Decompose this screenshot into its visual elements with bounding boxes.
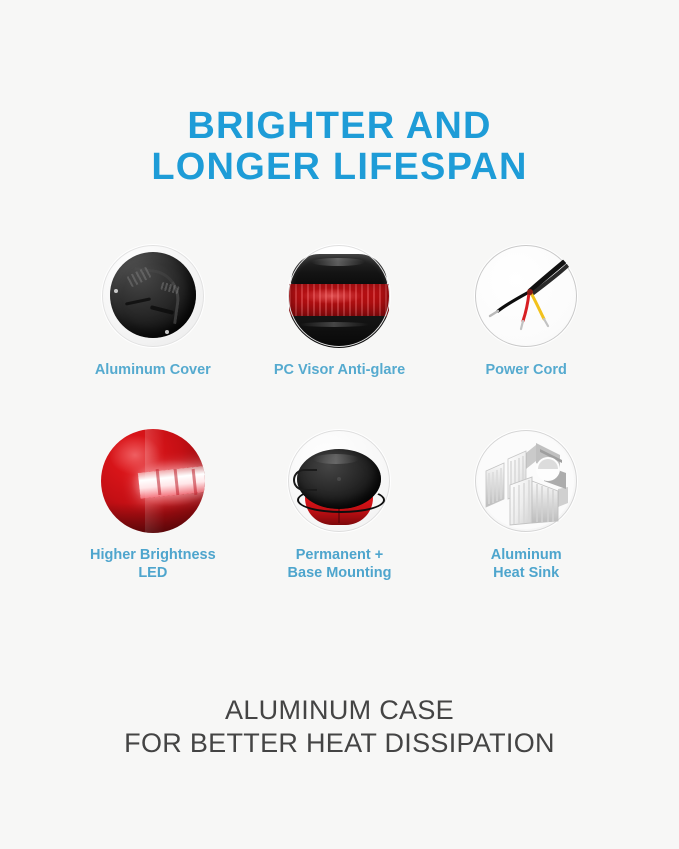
- heat-sink-fins-drawing: [474, 429, 578, 533]
- aluminum-heat-sink-icon: [474, 429, 578, 533]
- page-title: BRIGHTER AND LONGER LIFESPAN: [151, 106, 527, 188]
- footer-line-2: FOR BETTER HEAT DISSIPATION: [124, 727, 555, 760]
- pc-visor-beacon-icon: [287, 244, 391, 348]
- cover-screw-left: [114, 289, 118, 293]
- visor-lens-glow: [301, 288, 363, 304]
- feature-caption: Aluminum Cover: [95, 361, 211, 379]
- feature-item-led: Higher Brightness LED: [60, 429, 247, 582]
- feature-item-heat-sink: Aluminum Heat Sink: [433, 429, 620, 582]
- base-mounting-icon: [287, 429, 391, 533]
- visor-black-base: [287, 316, 391, 348]
- feature-caption: PC Visor Anti-glare: [274, 361, 405, 379]
- product-feature-poster: BRIGHTER AND LONGER LIFESPAN Aluminum Co…: [0, 0, 679, 849]
- cord-wires-drawing: [474, 244, 578, 348]
- visor-base-highlight: [299, 322, 369, 327]
- feature-item-aluminum-cover: Aluminum Cover: [60, 244, 247, 379]
- feature-caption: Permanent + Base Mounting: [288, 546, 392, 582]
- feature-item-pc-visor: PC Visor Anti-glare: [246, 244, 433, 379]
- aluminum-cover-icon: [101, 244, 205, 348]
- led-bottom-shadow: [101, 503, 205, 533]
- cover-screw-bottom: [165, 330, 169, 334]
- base-mounting-bracket: [293, 469, 317, 491]
- feature-caption: Power Cord: [485, 361, 566, 379]
- visor-body: [287, 244, 391, 348]
- page-title-line-2: LONGER LIFESPAN: [151, 147, 527, 188]
- footer-tagline: ALUMINUM CASE FOR BETTER HEAT DISSIPATIO…: [124, 694, 555, 760]
- feature-caption: Higher Brightness LED: [90, 546, 216, 582]
- power-cord-icon: [474, 244, 578, 348]
- feature-item-power-cord: Power Cord: [433, 244, 620, 379]
- footer-line-1: ALUMINUM CASE: [124, 694, 555, 727]
- high-brightness-led-icon: [101, 429, 205, 533]
- page-title-line-1: BRIGHTER AND: [151, 106, 527, 147]
- feature-caption: Aluminum Heat Sink: [491, 546, 562, 582]
- feature-item-base-mounting: Permanent + Base Mounting: [246, 429, 433, 582]
- feature-grid: Aluminum Cover PC Visor Anti-glare: [60, 244, 620, 582]
